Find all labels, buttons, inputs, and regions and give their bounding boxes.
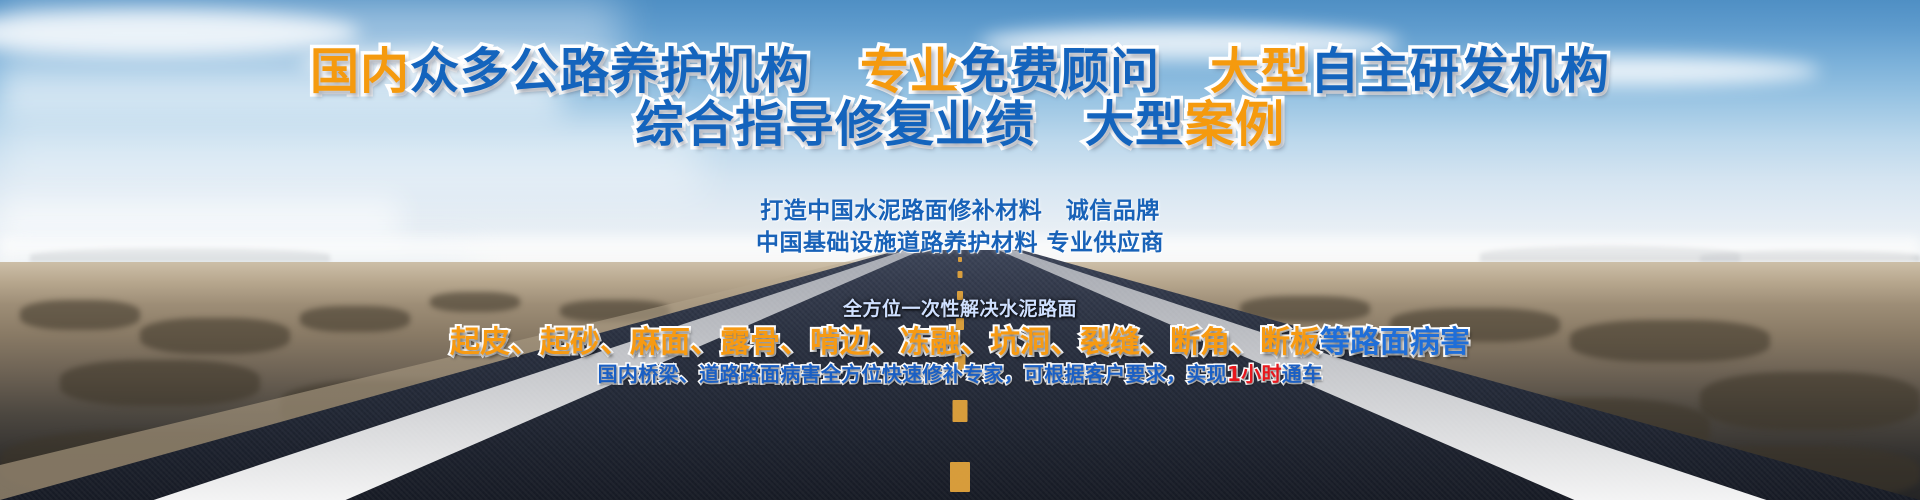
headline-1-segment-6: 大型 bbox=[1210, 43, 1310, 100]
subtitle-line-1: 打造中国水泥路面修补材料 诚信品牌 bbox=[0, 191, 1920, 225]
defect-list-segment-1: 等路面病害 bbox=[1320, 325, 1470, 360]
headline-2-segment-1 bbox=[1035, 96, 1085, 153]
pavement-defect-list: 起皮、起砂、麻面、露骨、啃边、冻融、坑洞、裂缝、断角、断板等路面病害 bbox=[0, 317, 1920, 361]
headline-line-1: 国内众多公路养护机构 专业免费顾问 大型自主研发机构 bbox=[0, 47, 1920, 96]
banner-text-content: 国内众多公路养护机构 专业免费顾问 大型自主研发机构 综合指导修复业绩 大型案例… bbox=[0, 0, 1920, 500]
headline-2-segment-0: 综合指导修复业绩 bbox=[635, 96, 1035, 153]
headline-1-segment-5 bbox=[1160, 43, 1210, 100]
defect-list-segment-0: 起皮、起砂、麻面、露骨、啃边、冻融、坑洞、裂缝、断角、断板 bbox=[450, 325, 1320, 360]
headline-1-segment-2 bbox=[810, 43, 860, 100]
expert-claim-segment-2: 通车 bbox=[1282, 362, 1323, 386]
expert-claim-segment-0: 国内桥梁、道路路面病害全方位快速修补专家，可根据客户要求，实现 bbox=[598, 362, 1227, 386]
headline-1-segment-7: 自主研发机构 bbox=[1310, 43, 1610, 100]
subtitle-line-2: 中国基础设施道路养护材料 专业供应商 bbox=[0, 223, 1920, 257]
repair-expert-claim: 国内桥梁、道路路面病害全方位快速修补专家，可根据客户要求，实现1小时通车 bbox=[0, 358, 1920, 387]
promo-banner: 国内众多公路养护机构 专业免费顾问 大型自主研发机构 综合指导修复业绩 大型案例… bbox=[0, 0, 1920, 500]
headline-1-segment-3: 专业 bbox=[860, 43, 960, 100]
headline-line-2: 综合指导修复业绩 大型案例 bbox=[0, 100, 1920, 149]
headline-2-segment-3: 案例 bbox=[1185, 96, 1285, 153]
headline-1-segment-0: 国内 bbox=[310, 43, 410, 100]
headline-1-segment-4: 免费顾问 bbox=[960, 43, 1160, 100]
expert-claim-segment-1: 1小时 bbox=[1227, 362, 1282, 386]
headline-1-segment-1: 众多公路养护机构 bbox=[410, 43, 810, 100]
headline-2-segment-2: 大型 bbox=[1085, 96, 1185, 153]
